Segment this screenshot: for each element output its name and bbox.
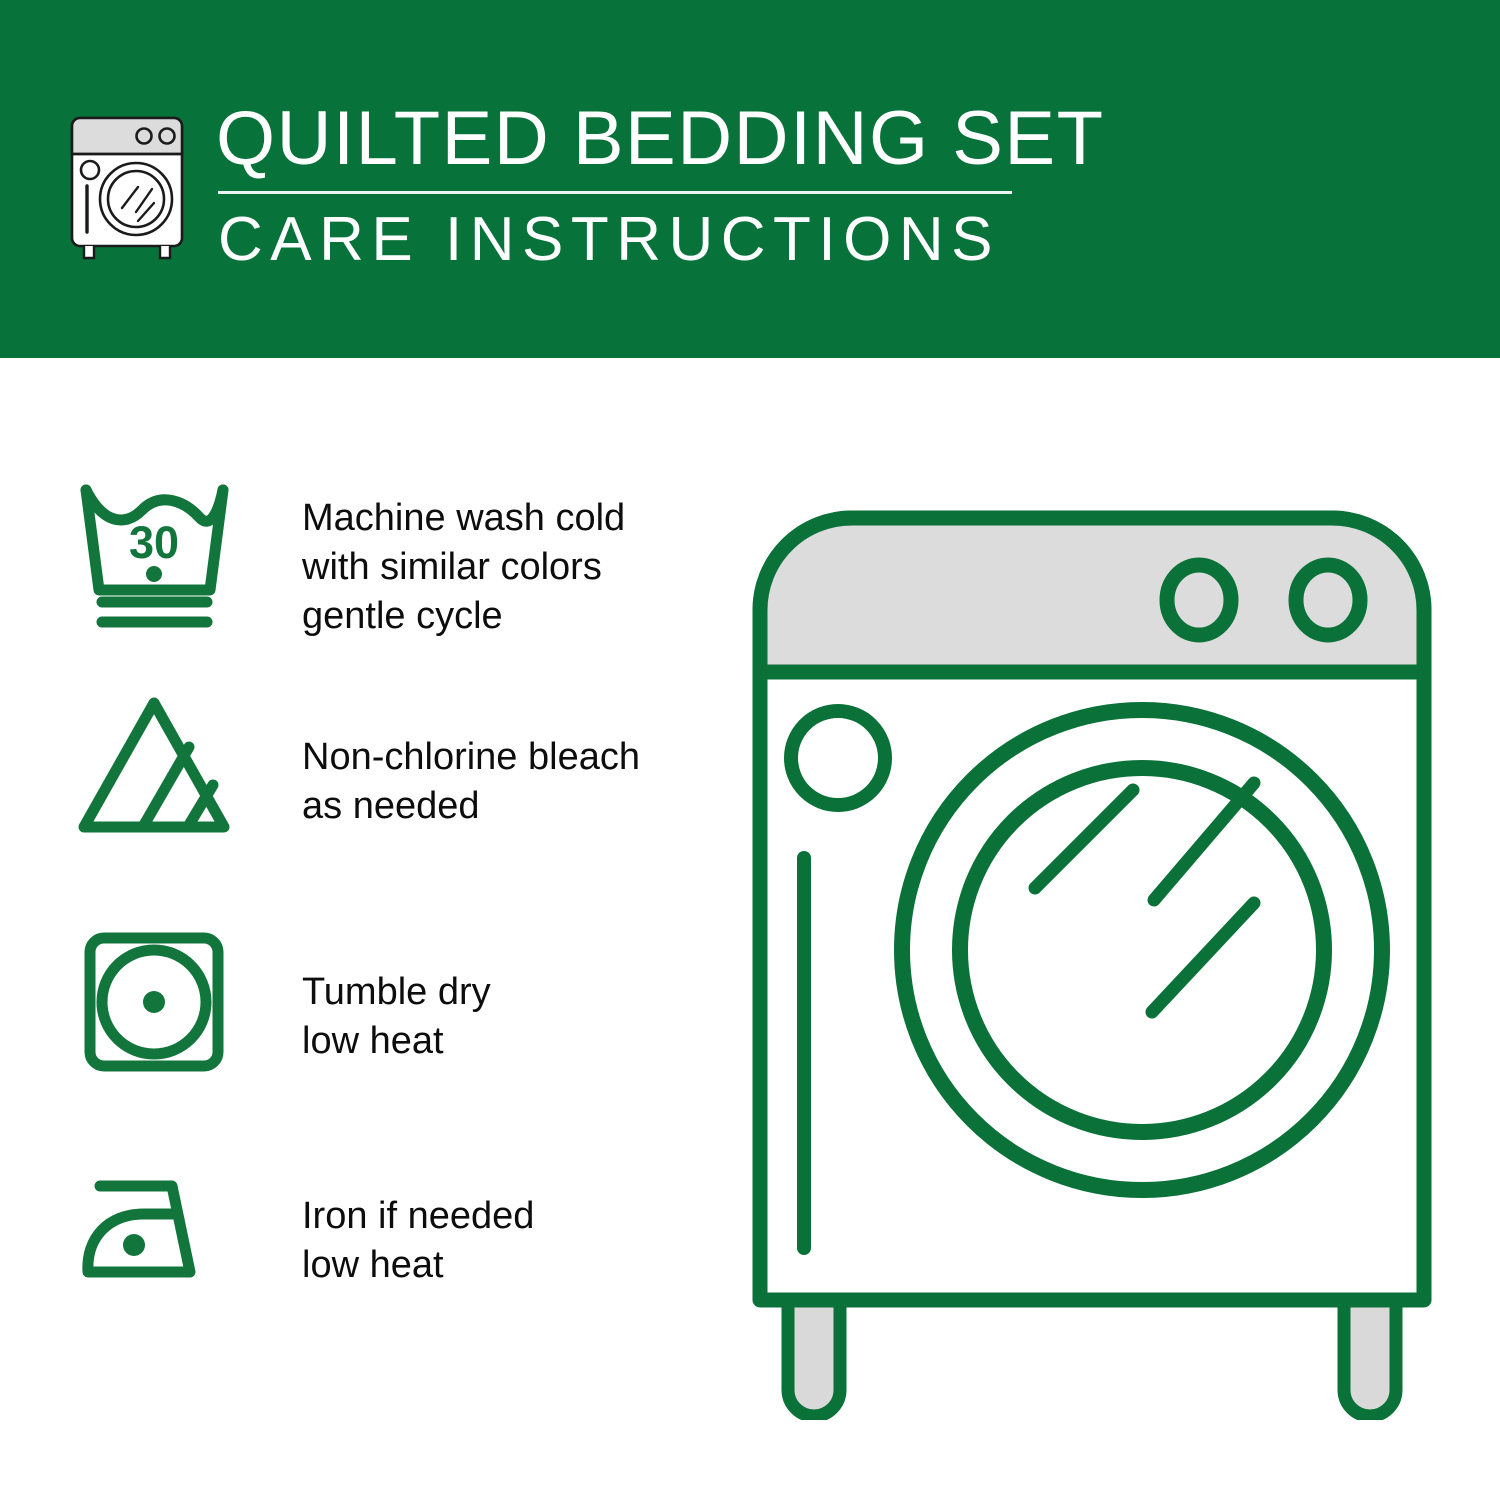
- care-symbol-list: 30 Machine wash cold with similar colors…: [0, 470, 740, 1370]
- care-item-label: Machine wash cold with similar colors ge…: [302, 494, 625, 641]
- wash-temperature-label: 30: [129, 517, 179, 568]
- header-banner: QUILTED BEDDING SET CARE INSTRUCTIONS: [0, 0, 1500, 358]
- washer-knob: [1296, 565, 1360, 635]
- washer-knob: [1167, 565, 1231, 635]
- iron-icon: [72, 1150, 237, 1315]
- header-title-group: QUILTED BEDDING SET CARE INSTRUCTIONS: [216, 96, 1036, 276]
- wash-tub-icon: 30: [72, 470, 237, 635]
- care-item-label: Tumble dry low heat: [302, 968, 491, 1066]
- care-item-label: Iron if needed low heat: [302, 1192, 534, 1290]
- care-item-bleach: Non-chlorine bleach as needed: [0, 685, 740, 875]
- tumble-dry-icon: [72, 920, 237, 1085]
- washing-machine-logo-icon: [62, 104, 202, 264]
- washing-machine-illustration: [742, 500, 1442, 1420]
- title-divider: [218, 191, 1012, 194]
- washer-detergent-cap: [791, 711, 885, 805]
- page-subtitle: CARE INSTRUCTIONS: [218, 204, 1000, 276]
- care-item-iron: Iron if needed low heat: [0, 1150, 740, 1340]
- care-item-machine-wash: 30 Machine wash cold with similar colors…: [0, 470, 740, 660]
- care-item-label: Non-chlorine bleach as needed: [302, 733, 640, 831]
- bleach-triangle-icon: [72, 685, 237, 850]
- care-instructions-infographic: QUILTED BEDDING SET CARE INSTRUCTIONS 30: [0, 0, 1500, 1500]
- care-item-tumble-dry: Tumble dry low heat: [0, 920, 740, 1110]
- page-title: QUILTED BEDDING SET: [216, 96, 1036, 182]
